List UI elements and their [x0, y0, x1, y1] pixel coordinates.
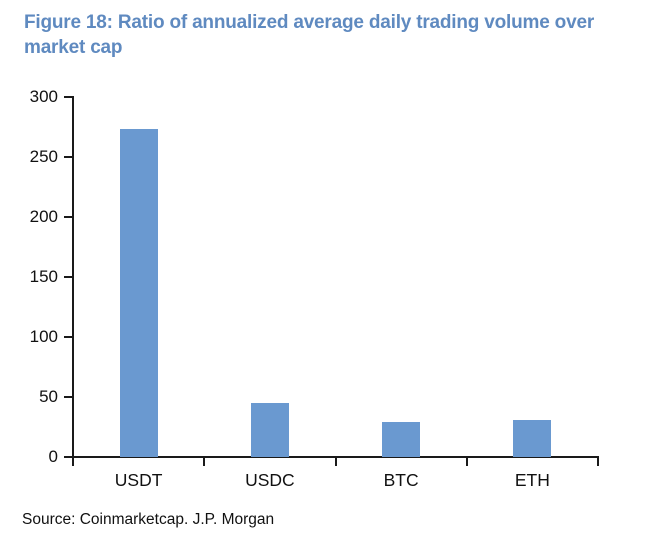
- y-axis-tick-label: 0: [0, 448, 58, 466]
- y-axis-tick: [64, 336, 73, 338]
- source-note: Source: Coinmarketcap. J.P. Morgan: [22, 511, 274, 529]
- x-axis-tick-label: ETH: [467, 470, 598, 490]
- y-axis-tick: [64, 276, 73, 278]
- bar-btc: [382, 422, 420, 457]
- y-axis-tick-label: 200: [0, 208, 58, 226]
- y-axis-tick-label: 100: [0, 328, 58, 346]
- x-axis-tick: [335, 457, 337, 466]
- bar-usdc: [251, 403, 289, 457]
- y-axis-tick-label: 300: [0, 88, 58, 106]
- y-axis-tick: [64, 156, 73, 158]
- x-axis-tick: [72, 457, 74, 466]
- y-axis-tick-label: 50: [0, 388, 58, 406]
- bar-chart: 050100150200250300 USDTUSDCBTCETH: [0, 0, 646, 544]
- x-axis-tick: [466, 457, 468, 466]
- y-axis-tick: [64, 216, 73, 218]
- x-axis-tick: [203, 457, 205, 466]
- y-axis-tick: [64, 396, 73, 398]
- x-axis-tick-label: USDC: [204, 470, 335, 490]
- x-axis-tick-label: BTC: [336, 470, 467, 490]
- y-axis-tick-label: 150: [0, 268, 58, 286]
- bar-eth: [513, 420, 551, 457]
- y-axis-tick: [64, 96, 73, 98]
- bar-usdt: [120, 129, 158, 457]
- y-axis-tick-label: 250: [0, 148, 58, 166]
- x-axis-tick-label: USDT: [73, 470, 204, 490]
- x-axis-tick: [597, 457, 599, 466]
